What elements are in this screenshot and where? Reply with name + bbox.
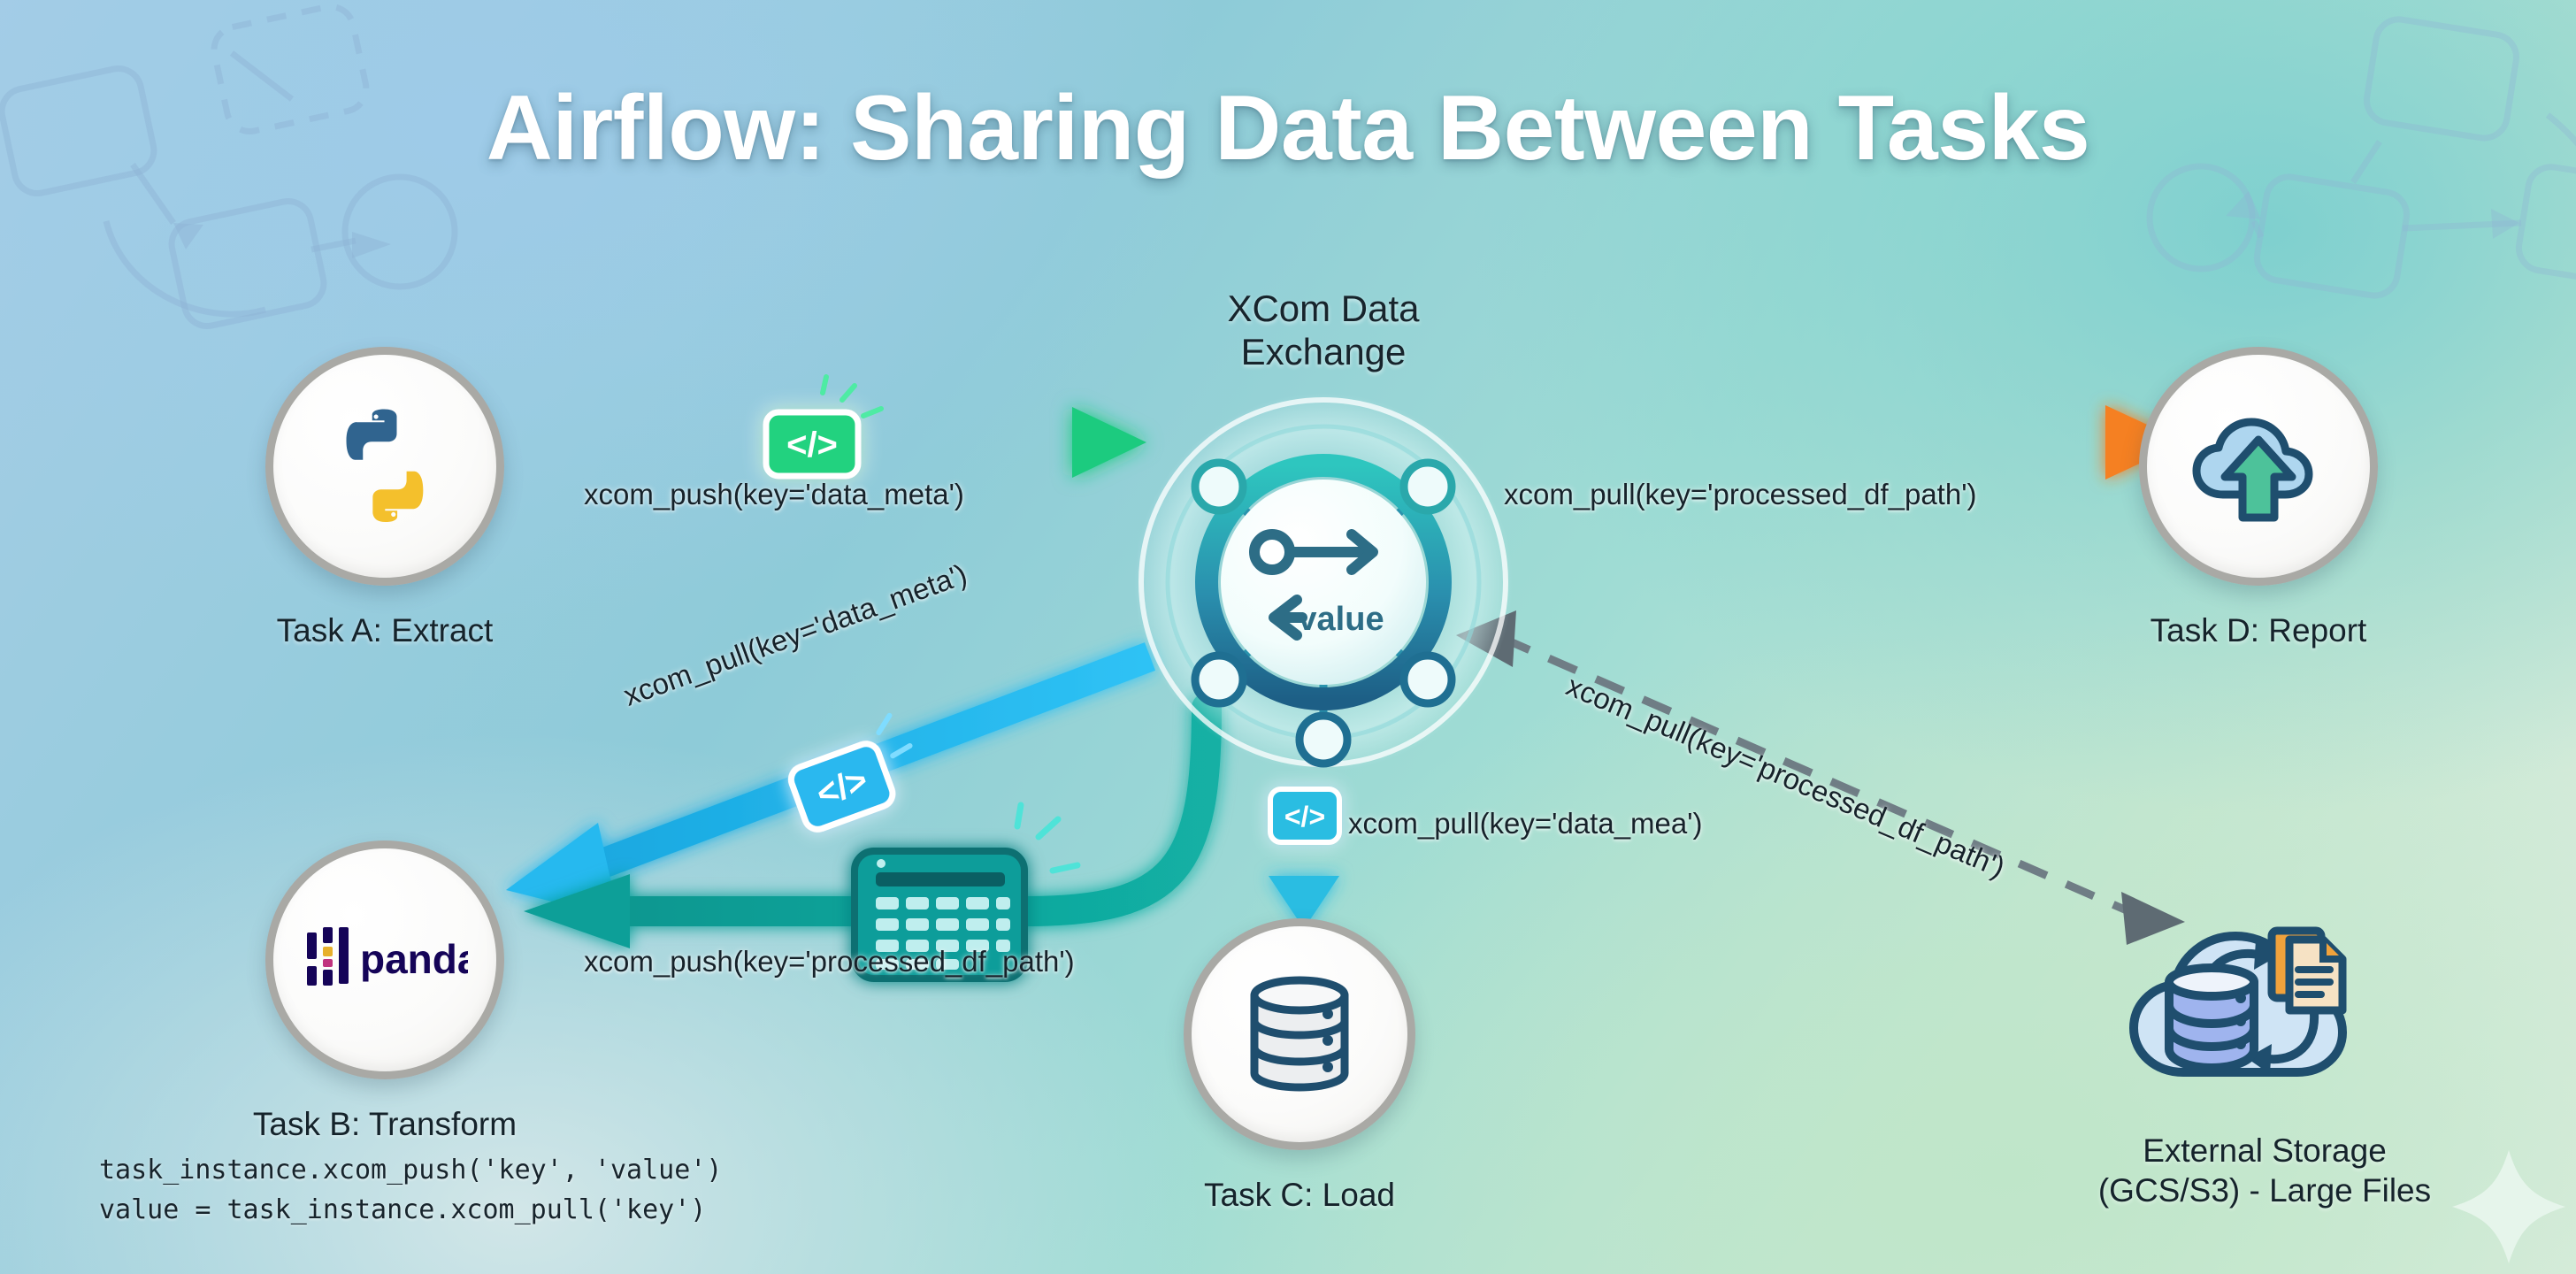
svg-text:</>: </> xyxy=(1284,801,1325,833)
python-icon xyxy=(318,400,451,533)
node-caption: Task B: Transform xyxy=(253,1106,517,1143)
edge-label-b-to-hub: xcom_push(key='processed_df_path') xyxy=(584,945,1075,979)
node-caption: Task A: Extract xyxy=(277,612,494,649)
pandas-icon: pandas xyxy=(302,925,468,994)
code-snippet: task_instance.xcom_push('key', 'value') … xyxy=(99,1150,722,1230)
svg-text:</>: </> xyxy=(786,426,838,464)
node-task-b[interactable]: pandas Task B: Transform xyxy=(265,840,504,1079)
node-caption: Task D: Report xyxy=(2150,612,2367,649)
code-badge-blue: </> xyxy=(781,712,926,833)
node-caption: Task C: Load xyxy=(1204,1177,1395,1214)
external-storage-caption: External Storage (GCS/S3) - Large Files xyxy=(2061,1131,2468,1210)
code-badge-cyan: </> xyxy=(1270,789,1339,842)
edge-label-hub-to-c: xcom_pull(key='data_mea') xyxy=(1348,807,1703,840)
edge-label-hub-to-d: xcom_pull(key='processed_df_path') xyxy=(1504,478,1976,511)
hub-title-line1: XCom Data xyxy=(1129,287,1518,330)
storage-caption-line1: External Storage xyxy=(2061,1131,2468,1170)
storage-caption-line2: (GCS/S3) - Large Files xyxy=(2061,1170,2468,1210)
database-icon xyxy=(1246,972,1353,1096)
hub-value-label: value xyxy=(1298,601,1384,638)
hub-title: XCom Data Exchange xyxy=(1129,287,1518,373)
edge-label-a-to-hub: xcom_push(key='data_meta') xyxy=(584,478,964,511)
node-task-a[interactable]: Task A: Extract xyxy=(265,347,504,586)
node-task-d[interactable]: Task D: Report xyxy=(2139,347,2378,586)
svg-text:pandas: pandas xyxy=(360,936,468,982)
code-line-2: value = task_instance.xcom_pull('key') xyxy=(99,1190,722,1230)
code-line-1: task_instance.xcom_push('key', 'value') xyxy=(99,1150,722,1190)
hub-title-line2: Exchange xyxy=(1129,330,1518,373)
cloud-upload-icon xyxy=(2188,404,2329,528)
xcom-data-exchange-hub[interactable]: value xyxy=(1129,388,1518,777)
external-storage[interactable]: External Storage (GCS/S3) - Large Files xyxy=(2061,885,2468,1210)
cloud-storage-icon xyxy=(2114,885,2415,1124)
node-task-c[interactable]: Task C: Load xyxy=(1184,918,1415,1150)
code-badge-green: </> xyxy=(766,377,881,476)
